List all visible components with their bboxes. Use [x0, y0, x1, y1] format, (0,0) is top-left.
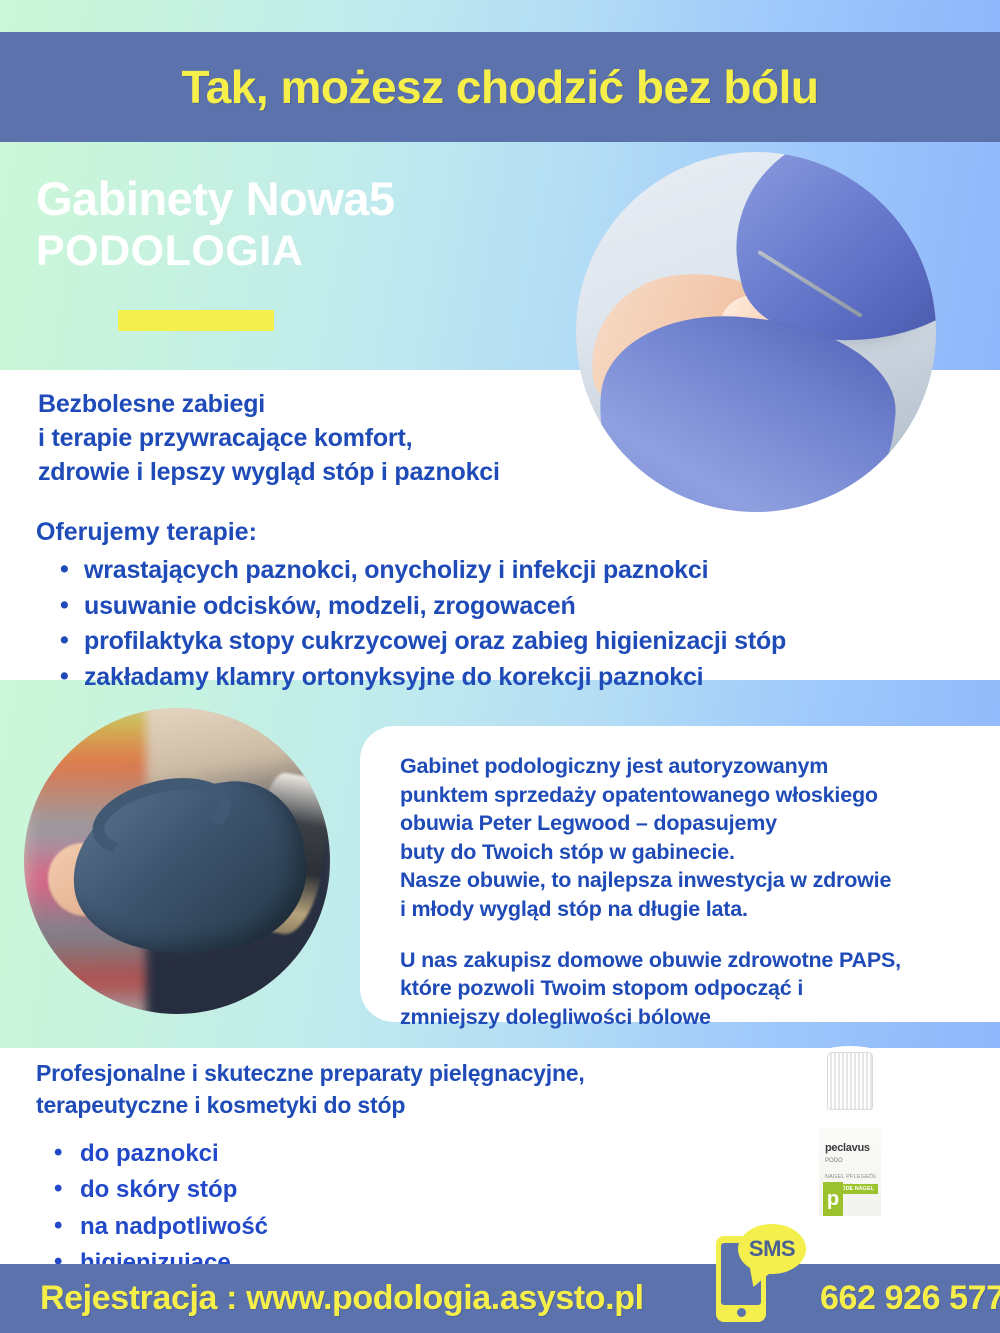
bottle-cap — [827, 1052, 873, 1110]
intro-line-1: Bezbolesne zabiegi — [38, 388, 658, 422]
product-bottle-photo: peclavus PODO NAGEL PFLEGEÖL MANDELÖL, B… — [748, 1046, 952, 1250]
card-p1-line3: obuwia Peter Legwood – dopasujemy — [400, 811, 777, 835]
footwear-info-card: Gabinet podologiczny jest autoryzowanym … — [360, 726, 1000, 1022]
bottle-brand-name: peclavus — [825, 1142, 870, 1154]
card-spacer — [400, 924, 992, 946]
peter-legwood-shoe-photo — [24, 708, 330, 1014]
offer-title: Oferujemy terapie: — [36, 518, 936, 547]
card-p1-line6: i młody wygląd stóp na długie lata. — [400, 897, 748, 921]
products-heading-line-2: terapeutyczne i kosmetyki do stóp — [36, 1090, 716, 1122]
peclavus-bottle: peclavus PODO NAGEL PFLEGEÖL MANDELÖL, B… — [817, 1052, 883, 1238]
list-item: profilaktyka stopy cukrzycowej oraz zabi… — [60, 624, 936, 660]
card-p2-line3: zmniejszy dolegliwości bólowe — [400, 1005, 711, 1029]
intro-paragraph: Bezbolesne zabiegi i terapie przywracają… — [38, 388, 658, 489]
card-p1-line2: punktem sprzedaży opatentowanego włoskie… — [400, 783, 878, 807]
bottle-desc-line-1: NAGEL PFLEGEÖL — [825, 1174, 877, 1180]
list-item: zakładamy klamry ortonyksyjne do korekcj… — [60, 660, 936, 696]
card-p2-line1: U nas zakupisz domowe obuwie zdrowotne P… — [400, 948, 901, 972]
card-p1-line4: buty do Twoich stóp w gabinecie. — [400, 840, 735, 864]
phone-home-button — [737, 1308, 746, 1317]
intro-line-2: i terapie przywracające komfort, — [38, 422, 658, 456]
list-item: wrastających paznokci, onycholizy i infe… — [60, 553, 936, 589]
products-heading-line-1: Profesjonalne i skuteczne preparaty piel… — [36, 1058, 716, 1090]
sms-phone-icon: SMS — [712, 1224, 808, 1324]
offer-section: Oferujemy terapie: wrastających paznokci… — [36, 518, 936, 695]
brand-underline-bar — [118, 310, 274, 331]
header-title: Tak, możesz chodzić bez bólu — [182, 60, 819, 114]
footer-phone-number[interactable]: 662 926 577 — [820, 1279, 1000, 1318]
list-item: do paznokci — [54, 1136, 268, 1172]
sms-label: SMS — [749, 1236, 795, 1262]
background-band-top — [0, 0, 1000, 32]
list-item: na nadpotliwość — [54, 1209, 268, 1245]
header-banner: Tak, możesz chodzić bez bólu — [0, 32, 1000, 142]
footer-registration-url[interactable]: Rejestracja : www.podologia.asysto.pl — [40, 1279, 644, 1318]
card-p1-line5: Nasze obuwie, to najlepsza inwestycja w … — [400, 868, 891, 892]
footer-bar: Rejestracja : www.podologia.asysto.pl 66… — [0, 1264, 1000, 1333]
bottle-subbrand: PODO — [825, 1158, 843, 1164]
card-p1-line1: Gabinet podologiczny jest autoryzowanym — [400, 754, 828, 778]
speech-bubble-icon: SMS — [738, 1224, 806, 1274]
card-paragraph-1: Gabinet podologiczny jest autoryzowanym … — [400, 752, 992, 924]
list-item: do skóry stóp — [54, 1172, 268, 1208]
bottle-label: peclavus PODO NAGEL PFLEGEÖL MANDELÖL, B… — [819, 1128, 881, 1216]
products-list: do paznokci do skóry stóp na nadpotliwoś… — [54, 1136, 268, 1282]
intro-line-3: zdrowie i lepszy wygląd stóp i paznokci — [38, 456, 658, 490]
card-p2-line2: które pozwoli Twoim stopom odpocząć i — [400, 976, 803, 1000]
brand-block: Gabinety Nowa5 PODOLOGIA — [36, 172, 636, 276]
products-heading: Profesjonalne i skuteczne preparaty piel… — [36, 1058, 716, 1121]
poster-root: Tak, możesz chodzić bez bólu Gabinety No… — [0, 0, 1000, 1333]
card-paragraph-2: U nas zakupisz domowe obuwie zdrowotne P… — [400, 946, 992, 1032]
brand-name: Gabinety Nowa5 — [36, 172, 636, 226]
offer-list: wrastających paznokci, onycholizy i infe… — [36, 553, 936, 695]
list-item: usuwanie odcisków, modzeli, zrogowaceń — [60, 589, 936, 625]
brand-specialty: PODOLOGIA — [36, 226, 636, 277]
bottle-monogram: p — [823, 1182, 843, 1216]
